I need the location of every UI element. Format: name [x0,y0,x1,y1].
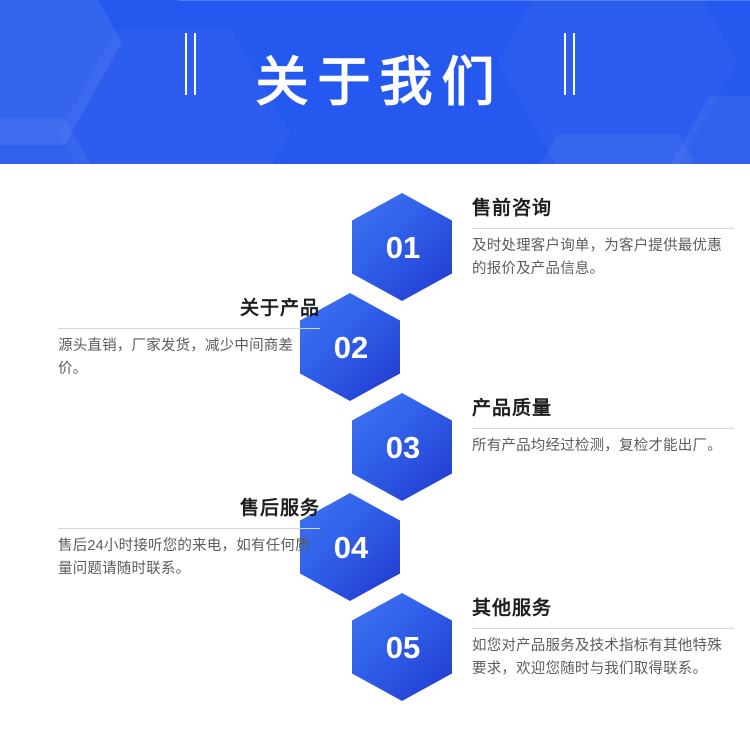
step-number: 01 [384,232,420,263]
item-title: 产品质量 [472,397,734,421]
item-description: 如您对产品服务及技术指标有其他特殊要求，欢迎您随时与我们取得联系。 [472,635,734,682]
hexagon-badge-05[interactable]: 05 [348,589,456,705]
item-divider [472,228,734,229]
item-divider [472,428,734,429]
step-number: 04 [332,532,368,563]
list-item: 05 其他服务 如您对产品服务及技术指标有其他特殊要求，欢迎您随时与我们取得联系… [0,589,750,709]
item-divider [472,628,734,629]
item-text-block: 其他服务 如您对产品服务及技术指标有其他特殊要求，欢迎您随时与我们取得联系。 [472,597,734,682]
step-number: 05 [384,632,420,663]
item-title: 售前咨询 [472,197,734,221]
banner-title-area: 关于我们 [0,0,750,164]
item-description: 所有产品均经过检测，复检才能出厂。 [472,435,734,458]
page-title: 关于我们 [247,56,504,109]
hexagon-badge-03[interactable]: 03 [348,389,456,505]
hexagon-badge-01[interactable]: 01 [348,189,456,305]
item-description: 售后24小时接听您的来电，如有任何质量问题请随时联系。 [58,535,320,582]
item-divider [58,328,320,329]
item-text-block: 关于产品 源头直销，厂家发货，减少中间商差价。 [58,297,320,382]
item-text-block: 售后服务 售后24小时接听您的来电，如有任何质量问题请随时联系。 [58,497,320,582]
step-number: 02 [332,332,368,363]
item-text-block: 售前咨询 及时处理客户询单，为客户提供最优惠的报价及产品信息。 [472,197,734,282]
item-description: 源头直销，厂家发货，减少中间商差价。 [58,335,320,382]
about-us-infographic: 关于我们 01 售前咨询 及时处理客户询单，为客户提供最优惠的报价及产品信息。 [0,0,750,750]
item-title: 其他服务 [472,597,734,621]
item-description: 及时处理客户询单，为客户提供最优惠的报价及产品信息。 [472,235,734,282]
step-number: 03 [384,432,420,463]
item-title: 关于产品 [58,297,320,321]
item-text-block: 产品质量 所有产品均经过检测，复检才能出厂。 [472,397,734,458]
hexagon-step-list: 01 售前咨询 及时处理客户询单，为客户提供最优惠的报价及产品信息。 02 关于… [0,164,750,750]
item-divider [58,528,320,529]
item-title: 售后服务 [58,497,320,521]
page-banner: 关于我们 [0,0,750,164]
